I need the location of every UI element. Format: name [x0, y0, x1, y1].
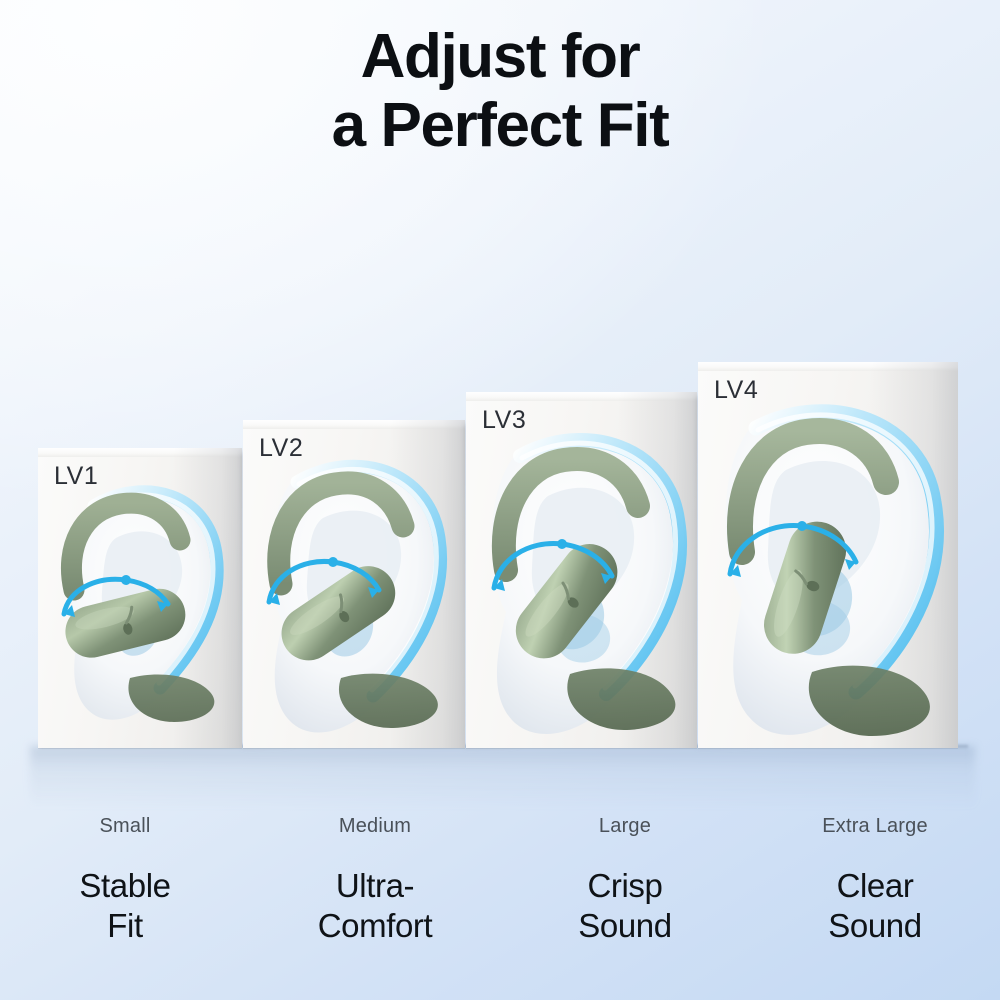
level-card-lv4[interactable]: LV4 [698, 362, 958, 748]
size-legend: Small Stable Fit Medium Ultra- Comfort L… [0, 815, 1000, 947]
level-card-lv2[interactable]: LV2 [243, 420, 465, 748]
level-badge-lv4: LV4 [714, 376, 758, 405]
legend-item-lv4: Extra Large Clear Sound [750, 815, 1000, 947]
size-label-small: Small [0, 815, 250, 838]
feature-label-ultra-comfort: Ultra- Comfort [250, 866, 500, 947]
feature-label-clear-sound: Clear Sound [750, 866, 1000, 947]
ear-illustration-lv2 [243, 438, 465, 748]
product-fit-infographic: Adjust for a Perfect Fit [0, 0, 1000, 1000]
size-label-large: Large [500, 815, 750, 838]
level-card-lv1[interactable]: LV1 [38, 448, 242, 748]
ear-illustration-lv1 [38, 464, 242, 748]
feature-label-crisp-sound: Crisp Sound [500, 866, 750, 947]
floor-shadow [30, 746, 975, 808]
level-badge-lv2: LV2 [259, 434, 303, 463]
level-card-lv3[interactable]: LV3 [466, 392, 697, 748]
legend-item-lv1: Small Stable Fit [0, 815, 250, 947]
legend-item-lv2: Medium Ultra- Comfort [250, 815, 500, 947]
size-label-extra-large: Extra Large [750, 815, 1000, 838]
level-badge-lv3: LV3 [482, 406, 526, 435]
ear-illustration-lv3 [466, 412, 697, 748]
ear-illustration-lv4 [698, 384, 958, 748]
feature-label-stable-fit: Stable Fit [0, 866, 250, 947]
size-label-medium: Medium [250, 815, 500, 838]
level-badge-lv1: LV1 [54, 462, 98, 491]
legend-item-lv3: Large Crisp Sound [500, 815, 750, 947]
